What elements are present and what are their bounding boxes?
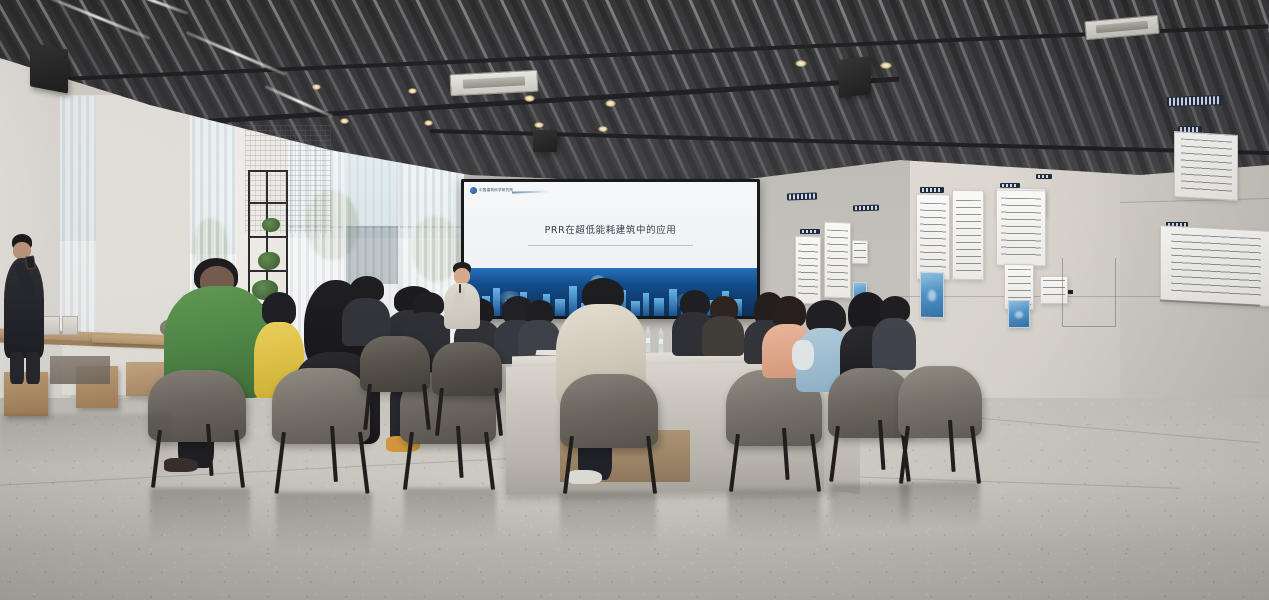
- wall-poster: [824, 222, 851, 299]
- wall-section-header-large: [1167, 95, 1223, 107]
- presenter: [442, 262, 482, 340]
- stool-shadow-block: [50, 356, 110, 384]
- audience-person: [702, 296, 746, 356]
- wall-section-label: [1036, 174, 1052, 179]
- door-handle[interactable]: [1068, 290, 1073, 294]
- wall-poster-image: [920, 272, 944, 319]
- handheld-microphone[interactable]: [459, 284, 461, 293]
- wall-board-top: [1174, 131, 1238, 201]
- downlight: [524, 95, 535, 102]
- audience-person: [872, 296, 918, 370]
- slide-title-underline: [528, 245, 692, 246]
- head: [454, 268, 470, 284]
- downlight: [534, 122, 544, 128]
- wall-poster: [916, 194, 950, 281]
- downlight: [424, 120, 433, 126]
- chair[interactable]: [560, 374, 658, 448]
- downlight: [312, 84, 321, 90]
- wall-speaker-center: [533, 130, 557, 152]
- chair[interactable]: [272, 368, 370, 444]
- wall-poster-small: [852, 240, 868, 265]
- smartphone[interactable]: [25, 255, 36, 269]
- wall-poster: [952, 190, 984, 281]
- window-left-narrow: [60, 96, 96, 346]
- photographer-person: [2, 234, 46, 384]
- wall-poster-image: [1008, 300, 1030, 328]
- downlight: [795, 60, 807, 67]
- slide-logo: 中国建筑科学研究院: [470, 187, 513, 194]
- wall-speaker-right: [839, 56, 871, 98]
- wall-section-label: [920, 187, 944, 193]
- wall-poster: [795, 236, 821, 305]
- downlight: [880, 62, 892, 69]
- wall-section-header: [787, 192, 817, 200]
- shoe-white: [568, 470, 602, 484]
- wall-poster: [996, 190, 1046, 267]
- water-bottle[interactable]: [659, 331, 663, 353]
- display-model: [62, 316, 78, 335]
- downlight: [605, 100, 616, 107]
- downlight: [598, 126, 608, 132]
- logo-mark-icon: [470, 187, 477, 194]
- conference-room-photo: {"n":0} 中国建筑科学研究院 PRR在超低能耗建筑中的应用: [0, 0, 1269, 600]
- slide-title: PRR在超低能耗建筑中的应用: [464, 222, 757, 236]
- downlight: [408, 88, 417, 94]
- wall-board-bottom: [1160, 225, 1269, 307]
- wall-speaker-left: [30, 42, 68, 93]
- ceiling-ac-cassette: [449, 70, 538, 97]
- wall-section-label: [800, 229, 820, 234]
- downlight: [340, 118, 349, 124]
- arm-sleeve: [792, 340, 814, 370]
- wall-section-header: [853, 205, 879, 212]
- slide-logo-text: 中国建筑科学研究院: [479, 188, 513, 193]
